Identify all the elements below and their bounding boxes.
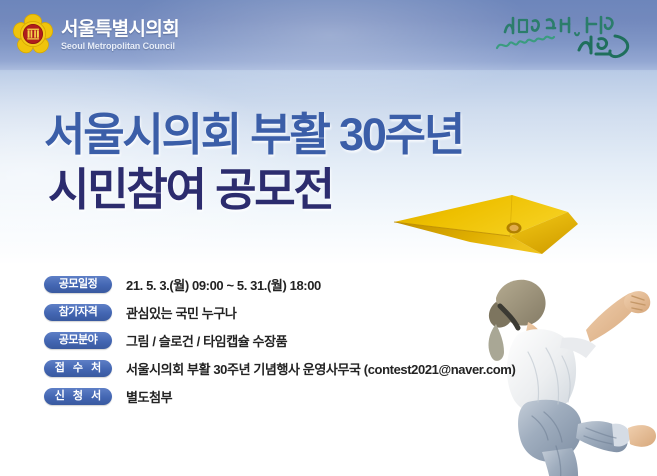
seoul-council-emblem-icon bbox=[12, 13, 54, 55]
info-value-schedule: 21. 5. 3.(월) 09:00 ~ 5. 31.(월) 18:00 bbox=[126, 275, 321, 294]
info-label-eligibility: 참가자격 bbox=[44, 304, 112, 321]
info-label-category: 공모분야 bbox=[44, 332, 112, 349]
title-line-2: 시민참여 공모전 bbox=[48, 167, 463, 212]
info-row: 공모일정 21. 5. 3.(월) 09:00 ~ 5. 31.(월) 18:0… bbox=[44, 270, 515, 298]
poster-root: 서울특별시의회 Seoul Metropolitan Council bbox=[0, 0, 657, 476]
page-title: 서울시의회 부활 30주년 시민참여 공모전 bbox=[44, 112, 463, 212]
info-row: 참가자격 관심있는 국민 누구나 bbox=[44, 298, 515, 326]
info-row: 신 청 서 별도첨부 bbox=[44, 382, 515, 410]
info-list: 공모일정 21. 5. 3.(월) 09:00 ~ 5. 31.(월) 18:0… bbox=[44, 270, 515, 410]
info-row: 공모분야 그림 / 슬로건 / 타임캡슐 수장품 bbox=[44, 326, 515, 354]
info-value-application: 별도첨부 bbox=[126, 387, 172, 406]
council-name-block: 서울특별시의회 Seoul Metropolitan Council bbox=[61, 18, 179, 51]
council-name-en: Seoul Metropolitan Council bbox=[61, 42, 179, 51]
title-line-1: 서울시의회 부활 30주년 bbox=[44, 112, 463, 157]
info-label-application: 신 청 서 bbox=[44, 388, 112, 405]
council-logo: 서울특별시의회 Seoul Metropolitan Council bbox=[12, 13, 179, 55]
info-row: 접 수 처 서울시의회 부활 30주년 기념행사 운영사무국 (contest2… bbox=[44, 354, 515, 382]
seoul-brand-slogan-icon bbox=[483, 6, 643, 62]
info-label-submission: 접 수 처 bbox=[44, 360, 112, 377]
info-value-category: 그림 / 슬로건 / 타임캡슐 수장품 bbox=[126, 331, 287, 350]
info-value-eligibility: 관심있는 국민 누구나 bbox=[126, 303, 236, 322]
council-name-ko: 서울특별시의회 bbox=[61, 20, 179, 39]
info-value-submission: 서울시의회 부활 30주년 기념행사 운영사무국 (contest2021@na… bbox=[126, 359, 515, 378]
info-label-schedule: 공모일정 bbox=[44, 276, 112, 293]
